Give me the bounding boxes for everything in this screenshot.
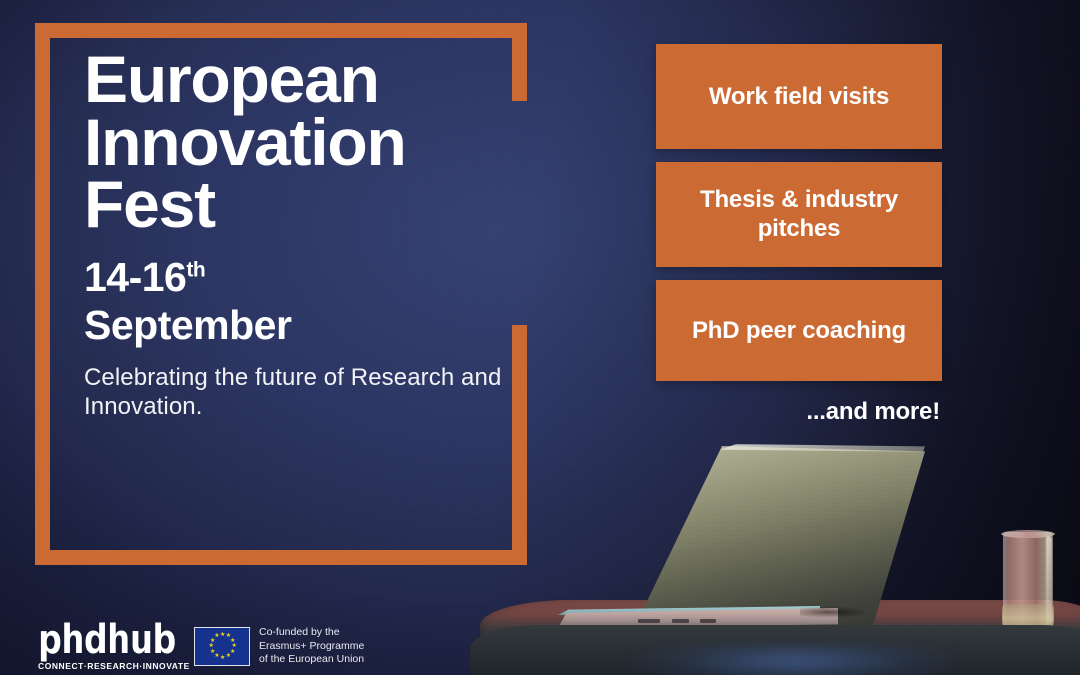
eu-star-icon: ★ bbox=[226, 654, 230, 658]
table-cloth-sheen bbox=[630, 644, 960, 675]
poster-canvas: European Innovation Fest 14-16th Septemb… bbox=[0, 0, 1080, 675]
eu-star-icon: ★ bbox=[220, 633, 224, 637]
eu-star-icon: ★ bbox=[214, 634, 218, 638]
laptop-hinge-shadow bbox=[800, 606, 870, 618]
eu-star-icon: ★ bbox=[232, 644, 236, 648]
frame-bar-top bbox=[35, 23, 527, 38]
eu-funding-line-3: of the European Union bbox=[259, 653, 364, 666]
phdhub-wordmark: phdhub bbox=[38, 622, 178, 659]
photo-scene bbox=[470, 420, 1080, 675]
eu-funding-line-2: Erasmus+ Programme bbox=[259, 640, 364, 653]
eu-funding-line-1: Co-funded by the bbox=[259, 626, 364, 639]
event-title-line-2: Innovation bbox=[84, 111, 514, 174]
event-date-ordinal: th bbox=[186, 258, 205, 281]
eu-funding-block: ★★★★★★★★★★★★ Co-funded by the Erasmus+ P… bbox=[194, 626, 364, 666]
event-tagline: Celebrating the future of Research and I… bbox=[84, 363, 504, 422]
frame-bar-left bbox=[35, 23, 50, 565]
event-title-line-1: European bbox=[84, 48, 514, 111]
eu-star-icon: ★ bbox=[220, 656, 224, 660]
eu-star-icon: ★ bbox=[209, 644, 213, 648]
event-date-month: September bbox=[84, 304, 514, 347]
frame-bar-bottom bbox=[35, 550, 527, 565]
eu-flag-icon: ★★★★★★★★★★★★ bbox=[194, 627, 250, 666]
event-date-range: 14-16 bbox=[84, 254, 186, 300]
drinking-glass-highlight bbox=[1046, 536, 1052, 624]
laptop-lid bbox=[635, 446, 925, 626]
frame-bar-right-lower bbox=[512, 325, 527, 565]
frame-bar-right-upper bbox=[512, 23, 527, 101]
eu-star-icon: ★ bbox=[210, 639, 214, 643]
activity-card-list: Work field visits Thesis & industry pitc… bbox=[656, 44, 942, 426]
headline-block: European Innovation Fest 14-16th Septemb… bbox=[84, 48, 514, 422]
logo-bar: phdhub CONNECT·RESEARCH·INNOVATE ★★★★★★★… bbox=[38, 622, 364, 671]
eu-funding-text: Co-funded by the Erasmus+ Programme of t… bbox=[259, 626, 364, 666]
phdhub-tagline: CONNECT·RESEARCH·INNOVATE bbox=[38, 661, 178, 671]
activity-card-thesis-industry-pitches[interactable]: Thesis & industry pitches bbox=[656, 162, 942, 267]
laptop-port bbox=[700, 619, 716, 623]
and-more-label: ...and more! bbox=[656, 398, 942, 426]
laptop-port bbox=[638, 619, 660, 623]
activity-card-work-field-visits[interactable]: Work field visits bbox=[656, 44, 942, 149]
phdhub-logo: phdhub CONNECT·RESEARCH·INNOVATE bbox=[38, 622, 178, 671]
laptop-port bbox=[672, 619, 689, 623]
eu-star-icon: ★ bbox=[210, 650, 214, 654]
event-date: 14-16th September bbox=[84, 256, 514, 347]
laptop-ports bbox=[638, 618, 758, 624]
event-title-line-3: Fest bbox=[84, 173, 514, 236]
activity-card-phd-peer-coaching[interactable]: PhD peer coaching bbox=[656, 280, 942, 381]
event-title: European Innovation Fest bbox=[84, 48, 514, 236]
